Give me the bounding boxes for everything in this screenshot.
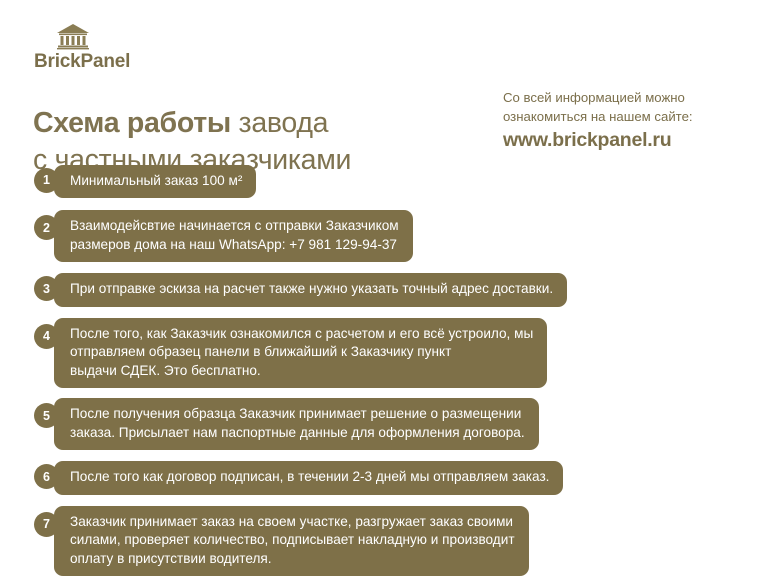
infographic-page: BrickPanel Схема работы завода с частным… [0,0,757,565]
step-text-line: отправляем образец панели в ближайший к … [70,343,533,361]
step-text-line: выдачи СДЕК. Это бесплатно. [70,362,533,380]
house-building-icon [56,24,90,50]
step-text-bar: После получения образца Заказчик принима… [54,398,539,450]
step-number-badge: 7 [34,512,59,537]
steps-list: 1 Минимальный заказ 100 м² 2 Взаимодейсв… [0,165,757,586]
step-text-line: Минимальный заказ 100 м² [70,172,242,190]
step-item: 6 После того как договор подписан, в теч… [0,461,757,494]
website-note-line-1: Со всей информацией можно [503,89,753,108]
website-url[interactable]: www.brickpanel.ru [503,129,753,152]
brand-logo: BrickPanel [34,24,254,71]
step-text-bar: Заказчик принимает заказ на своем участк… [54,506,529,576]
step-text-line: После того, как Заказчик ознакомился с р… [70,325,533,343]
step-text-bar: После того как договор подписан, в течен… [54,461,563,494]
step-text-line: После получения образца Заказчик принима… [70,405,525,423]
page-title-strong: Схема работы [33,107,231,139]
step-item: 4 После того, как Заказчик ознакомился с… [0,318,757,388]
step-text-bar: Взаимодейсвтие начинается с отправки Зак… [54,210,413,262]
website-note-line-2: ознакомиться на нашем сайте: [503,108,753,127]
step-text-line: При отправке эскиза на расчет также нужн… [70,280,553,298]
step-text-bar: Минимальный заказ 100 м² [54,165,256,198]
step-text-line: Взаимодейсвтие начинается с отправки Зак… [70,217,399,235]
step-item: 5 После получения образца Заказчик прини… [0,398,757,450]
brand-name: BrickPanel [34,52,254,71]
step-item: 1 Минимальный заказ 100 м² [0,165,757,198]
step-item: 3 При отправке эскиза на расчет также ну… [0,273,757,306]
website-note: Со всей информацией можно ознакомиться н… [503,89,753,152]
step-text-line: размеров дома на наш WhatsApp: +7 981 12… [70,236,399,254]
step-number-badge: 1 [34,168,59,193]
step-text-line: Заказчик принимает заказ на своем участк… [70,513,515,531]
step-text-line: заказа. Присылает нам паспортные данные … [70,424,525,442]
step-number-badge: 4 [34,324,59,349]
step-text-line: оплату в присутствии водителя. [70,550,515,568]
page-title-line-1: Схема работы завода [33,105,483,141]
step-item: 2 Взаимодейсвтие начинается с отправки З… [0,210,757,262]
page-title-rest: завода [231,107,328,139]
step-text-line: силами, проверяет количество, подписывае… [70,531,515,549]
step-item: 7 Заказчик принимает заказ на своем учас… [0,506,757,576]
step-text-line: После того как договор подписан, в течен… [70,468,549,486]
step-text-bar: После того, как Заказчик ознакомился с р… [54,318,547,388]
step-text-bar: При отправке эскиза на расчет также нужн… [54,273,567,306]
